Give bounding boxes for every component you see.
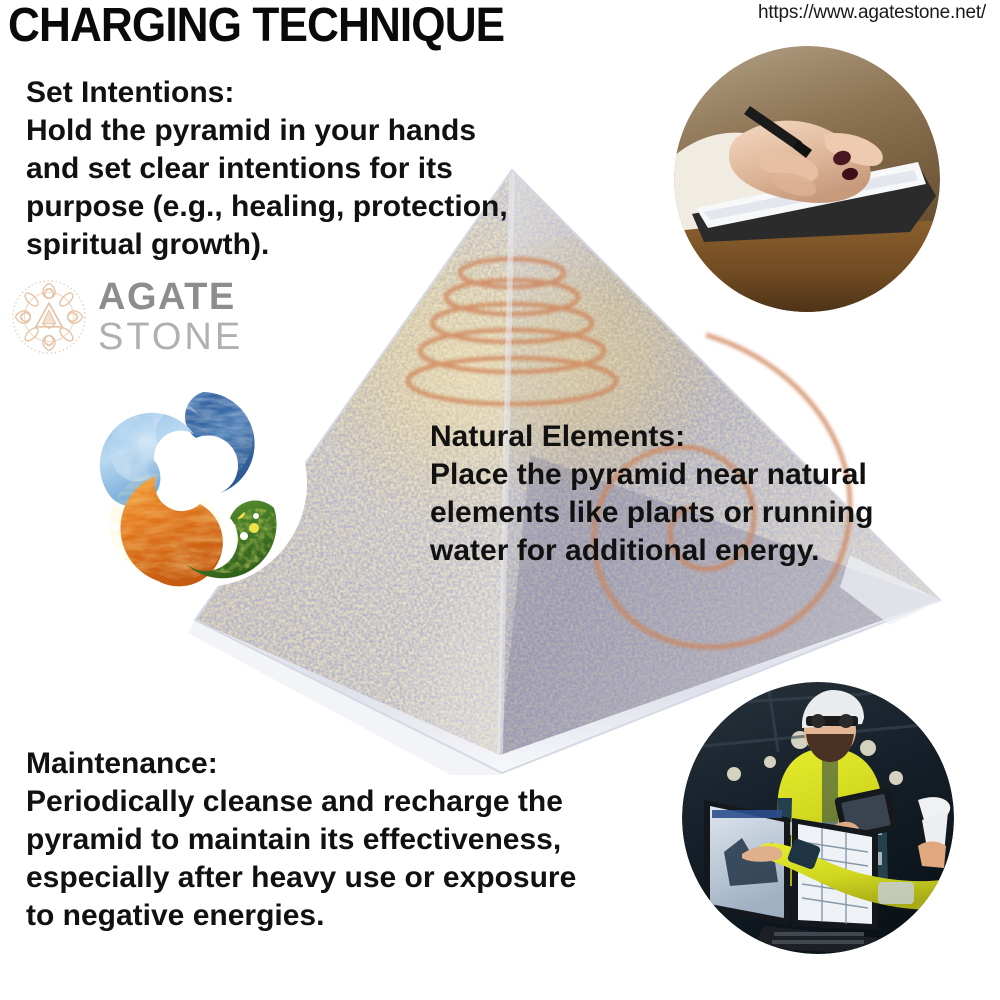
section-line: Hold the pyramid in your hands [26,112,508,150]
agate-mandala-triangle-icon [8,276,90,358]
engineers-photo-svg [682,682,954,954]
writing-photo-svg [674,46,940,312]
poster-canvas: CHARGING TECHNIQUE https://www.agateston… [0,0,1000,1000]
page-title: CHARGING TECHNIQUE [8,2,504,50]
site-url[interactable]: https://www.agatestone.net/ [758,2,986,24]
logo-agate-text: AGATE [98,278,243,316]
section-maintenance: Maintenance: Periodically cleanse and re… [26,745,576,935]
logo-stone-text: STONE [98,318,243,356]
hand-writing-notebook-photo [674,46,940,312]
section-heading: Maintenance: [26,745,576,783]
section-line: water for additional energy. [430,532,873,570]
section-line: to negative energies. [26,897,576,935]
section-line: elements like plants or running [430,494,873,532]
section-line: especially after heavy use or exposure [26,859,576,897]
section-line: Place the pyramid near natural [430,456,873,494]
section-line: Periodically cleanse and recharge the [26,783,576,821]
section-line: spiritual growth). [26,226,508,264]
section-line: purpose (e.g., healing, protection, [26,188,508,226]
section-heading: Natural Elements: [430,418,873,456]
section-line: and set clear intentions for its [26,150,508,188]
agate-stone-logo[interactable]: AGATE STONE [8,272,258,362]
section-natural-elements: Natural Elements: Place the pyramid near… [430,418,873,570]
section-line: pyramid to maintain its effectiveness, [26,821,576,859]
section-heading: Set Intentions: [26,74,508,112]
logo-wordmark: AGATE STONE [98,278,243,356]
section-set-intentions: Set Intentions: Hold the pyramid in your… [26,74,508,264]
four-elements-triskelion-badge [96,376,310,610]
industrial-engineers-photo [682,682,954,954]
elements-badge-svg [96,376,310,610]
